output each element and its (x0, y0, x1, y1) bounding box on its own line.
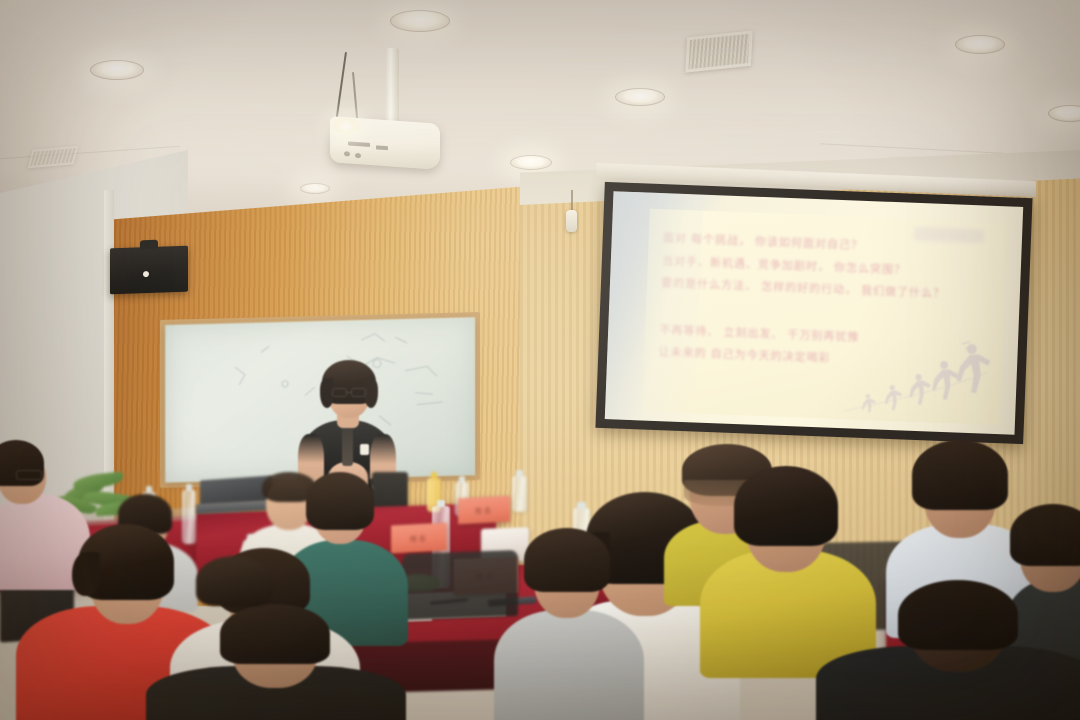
wall-speaker-icon (110, 246, 188, 295)
ceiling-vent-icon (685, 30, 752, 72)
glasses-icon (332, 388, 347, 397)
projection-screen-surface: 面对 每个挑战， 你该如何面对自己？ 当对手、新机遇、竞争加剧时， 你怎么突围？… (605, 191, 1023, 435)
downlight-icon (390, 10, 450, 32)
running-figures-icon (842, 333, 995, 417)
slide-line: 不再等待、 立刻出发、 千万别再犹豫 (659, 321, 860, 345)
glasses-icon (16, 470, 42, 480)
attendee-small-head (196, 556, 272, 626)
lapel-badge (360, 444, 369, 455)
projector-lens (332, 118, 360, 134)
downlight-icon (300, 183, 330, 194)
projection-screen[interactable]: 面对 每个挑战， 你该如何面对自己？ 当对手、新机遇、竞争加剧时， 你怎么突围？… (595, 182, 1032, 444)
glasses-bridge (347, 392, 351, 393)
name-placard-text: 姓名 (458, 504, 510, 517)
water-bottle[interactable] (512, 476, 527, 512)
attendee-grey-shirt-right (494, 526, 644, 720)
slide-logo-icon (914, 227, 984, 244)
downlight-icon (90, 60, 144, 80)
slide-line: 面对 每个挑战， 你该如何面对自己？ (663, 229, 864, 253)
glasses-icon (351, 388, 366, 397)
slide-line: 当对手、新机遇、竞争加剧时， 你怎么突围？ (662, 252, 906, 277)
sensor-cord (571, 190, 573, 212)
attendee-navy-front (146, 604, 406, 720)
ceiling-sensor-icon (566, 210, 577, 232)
projector-pole (385, 48, 399, 130)
presenter-hair-side (364, 378, 378, 408)
name-placard: 姓名 (458, 496, 510, 525)
slide-line: 让未来的 自己为今天的决定喝彩 (658, 343, 831, 366)
conference-room-photo: 面对 每个挑战， 你该如何面对自己？ 当对手、新机遇、竞争加剧时， 你怎么突围？… (0, 0, 1080, 720)
slide-content: 面对 每个挑战， 你该如何面对自己？ 当对手、新机遇、竞争加剧时， 你怎么突围？… (642, 209, 1006, 425)
downlight-icon (510, 155, 552, 170)
slide-line: 要的是什么方法、 怎样的好的行动， 我们做了什么？ (661, 274, 946, 301)
attendee-dark-bottom-right (816, 580, 1080, 720)
downlight-icon (955, 35, 1005, 54)
downlight-icon (615, 88, 665, 106)
